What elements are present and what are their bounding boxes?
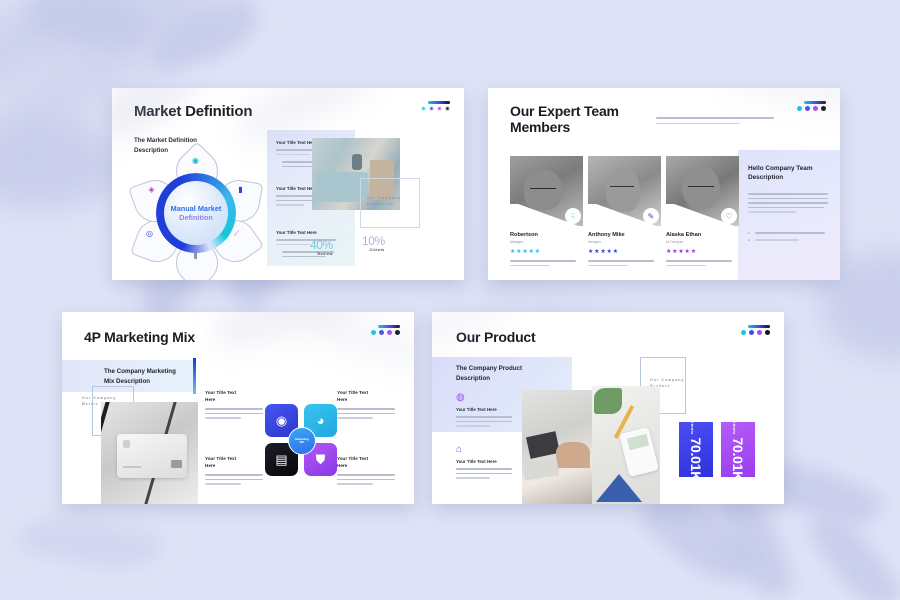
text-block: Your Title Text Here [337, 390, 399, 419]
petal-diagram: Manual Market Definition ◉ ▮ ⟋ ⦀ ◎ ◈ [130, 150, 262, 276]
rating-stars: ★★★★★ [666, 248, 739, 255]
dot-purple[interactable] [813, 106, 818, 111]
rating-stars: ★★★★★ [510, 248, 583, 255]
dot-cyan[interactable] [421, 106, 426, 111]
stat-label: Clients [732, 422, 737, 434]
avatar: ☟ [510, 156, 583, 226]
slide-indicator-dots[interactable] [741, 325, 770, 335]
frame-label: Our Company Definition [367, 196, 415, 208]
page-title: Our Product [456, 330, 535, 346]
avatar: ✎ [588, 156, 661, 226]
diagram-center-label: Manual Market Definition [156, 173, 236, 253]
dot-blue[interactable] [429, 106, 434, 111]
globe-icon: ◍ [456, 392, 514, 403]
bg-blob [0, 120, 120, 210]
text-block: Your Title Text Here [337, 456, 399, 485]
member-name: Anthony Mike [588, 232, 661, 238]
center-line-2: Mix [300, 440, 305, 444]
team-description-panel: Hello Company Team Description 1. 2. [738, 150, 840, 280]
stat-value: 70.01K [730, 437, 746, 477]
dot-cyan[interactable] [741, 330, 746, 335]
team-member-card[interactable]: ✎ Anthony Mike Designer ★★★★★ [588, 156, 661, 266]
dot-black[interactable] [821, 106, 826, 111]
badge-icon: ◈ [145, 183, 158, 196]
stat-box-clients-2: Clients 70.01K [721, 422, 755, 477]
heart-hand-icon: ♡ [721, 208, 737, 224]
team-member-card[interactable]: ♡ Alaska Ethan UI Designer ★★★★★ [666, 156, 739, 266]
slide-market-definition[interactable]: Market Definition The Market Definition … [112, 88, 464, 280]
sliders-icon: ⦀ [189, 250, 202, 263]
progress-ring: Manual Market Definition [156, 173, 236, 253]
stat-caption: Review [310, 252, 333, 256]
dot-black[interactable] [395, 330, 400, 335]
stat-clients: 10% Clients [362, 234, 385, 252]
block-heading: Your Title Text Here [456, 407, 514, 412]
page-title: Our Expert Team Members [510, 104, 619, 135]
member-role: Designer [588, 240, 661, 244]
gradient-heading: The Company Product Description [456, 364, 538, 383]
dot-cyan[interactable] [371, 330, 376, 335]
block-heading: Your Title Text Here [456, 459, 514, 464]
pen-doc-icon: ✎ [643, 208, 659, 224]
rocket-icon: ⌂ [456, 444, 514, 455]
rating-stars: ★★★★★ [588, 248, 661, 255]
text-block: Your Title Text Here [205, 390, 267, 419]
block-heading: Your Title Text Here [276, 230, 340, 235]
center-line-1: Manual Market [171, 204, 222, 213]
feature-block: ◍ Your Title Text Here [456, 392, 514, 427]
hand-tap-icon: ☟ [565, 208, 581, 224]
credit-card-photo [101, 402, 198, 504]
dot-purple[interactable] [757, 330, 762, 335]
page-title: 4P Marketing Mix [84, 330, 195, 346]
indicator-bar [428, 101, 450, 104]
panel-heading: Hello Company Team Description [748, 164, 832, 183]
stat-label: Clients [690, 422, 695, 434]
stat-value: 40% [310, 238, 333, 252]
workspace-photo [522, 390, 592, 504]
matrix-center-label: Marketing Mix [288, 427, 316, 455]
bar-chart-icon: ▮ [234, 183, 247, 196]
member-name: Robertson [510, 232, 583, 238]
slide-indicator-dots[interactable] [421, 101, 450, 111]
block-heading: Your Title Text Here [205, 390, 267, 403]
member-role: Manager [510, 240, 583, 244]
indicator-bar [748, 325, 770, 328]
dot-purple[interactable] [437, 106, 442, 111]
block-heading: Your Title Text Here [205, 456, 267, 469]
refresh-icon: ◎ [143, 227, 156, 240]
slide-indicator-dots[interactable] [371, 325, 400, 335]
dot-cyan[interactable] [797, 106, 802, 111]
indicator-bar [378, 325, 400, 328]
slide-indicator-dots[interactable] [797, 101, 826, 111]
stat-caption: Clients [362, 248, 385, 252]
target-icon: ◉ [189, 154, 202, 167]
text-block: Your Title Text Here [205, 456, 267, 485]
page-title: Market Definition [134, 104, 252, 121]
dot-blue[interactable] [749, 330, 754, 335]
stat-box-clients-1: Clients 70.01K [679, 422, 713, 477]
dot-black[interactable] [445, 106, 450, 111]
slide-our-product[interactable]: Our Product The Company Product Descript… [432, 312, 784, 504]
slide-marketing-mix[interactable]: 4P Marketing Mix The Company Marketing M… [62, 312, 414, 504]
team-member-card[interactable]: ☟ Robertson Manager ★★★★★ [510, 156, 583, 266]
dot-blue[interactable] [805, 106, 810, 111]
dot-black[interactable] [765, 330, 770, 335]
stat-review: 40% Review [310, 238, 333, 256]
block-heading: Your Title Text Here [337, 456, 399, 469]
member-name: Alaska Ethan [666, 232, 739, 238]
avatar: ♡ [666, 156, 739, 226]
dot-blue[interactable] [379, 330, 384, 335]
four-p-matrix: ◉ ◕ ▤ ⛊ Marketing Mix [265, 404, 337, 476]
bg-leaf [17, 506, 164, 580]
gradient-heading: The Company Marketing Mix Description [104, 367, 194, 386]
header-note [656, 114, 776, 124]
member-role: UI Designer [666, 240, 739, 244]
line-chart-icon: ⟋ [230, 227, 243, 240]
stat-value: 70.01K [688, 437, 704, 477]
desk-flatlay-photo [592, 386, 660, 504]
block-heading: Your Title Text Here [337, 390, 399, 403]
slide-expert-team[interactable]: Hello Company Team Description 1. 2. Our… [488, 88, 840, 280]
feature-block: ⌂ Your Title Text Here [456, 444, 514, 479]
stat-value: 10% [362, 234, 385, 248]
center-line-2: Definition [179, 213, 213, 222]
dot-purple[interactable] [387, 330, 392, 335]
indicator-bar [804, 101, 826, 104]
